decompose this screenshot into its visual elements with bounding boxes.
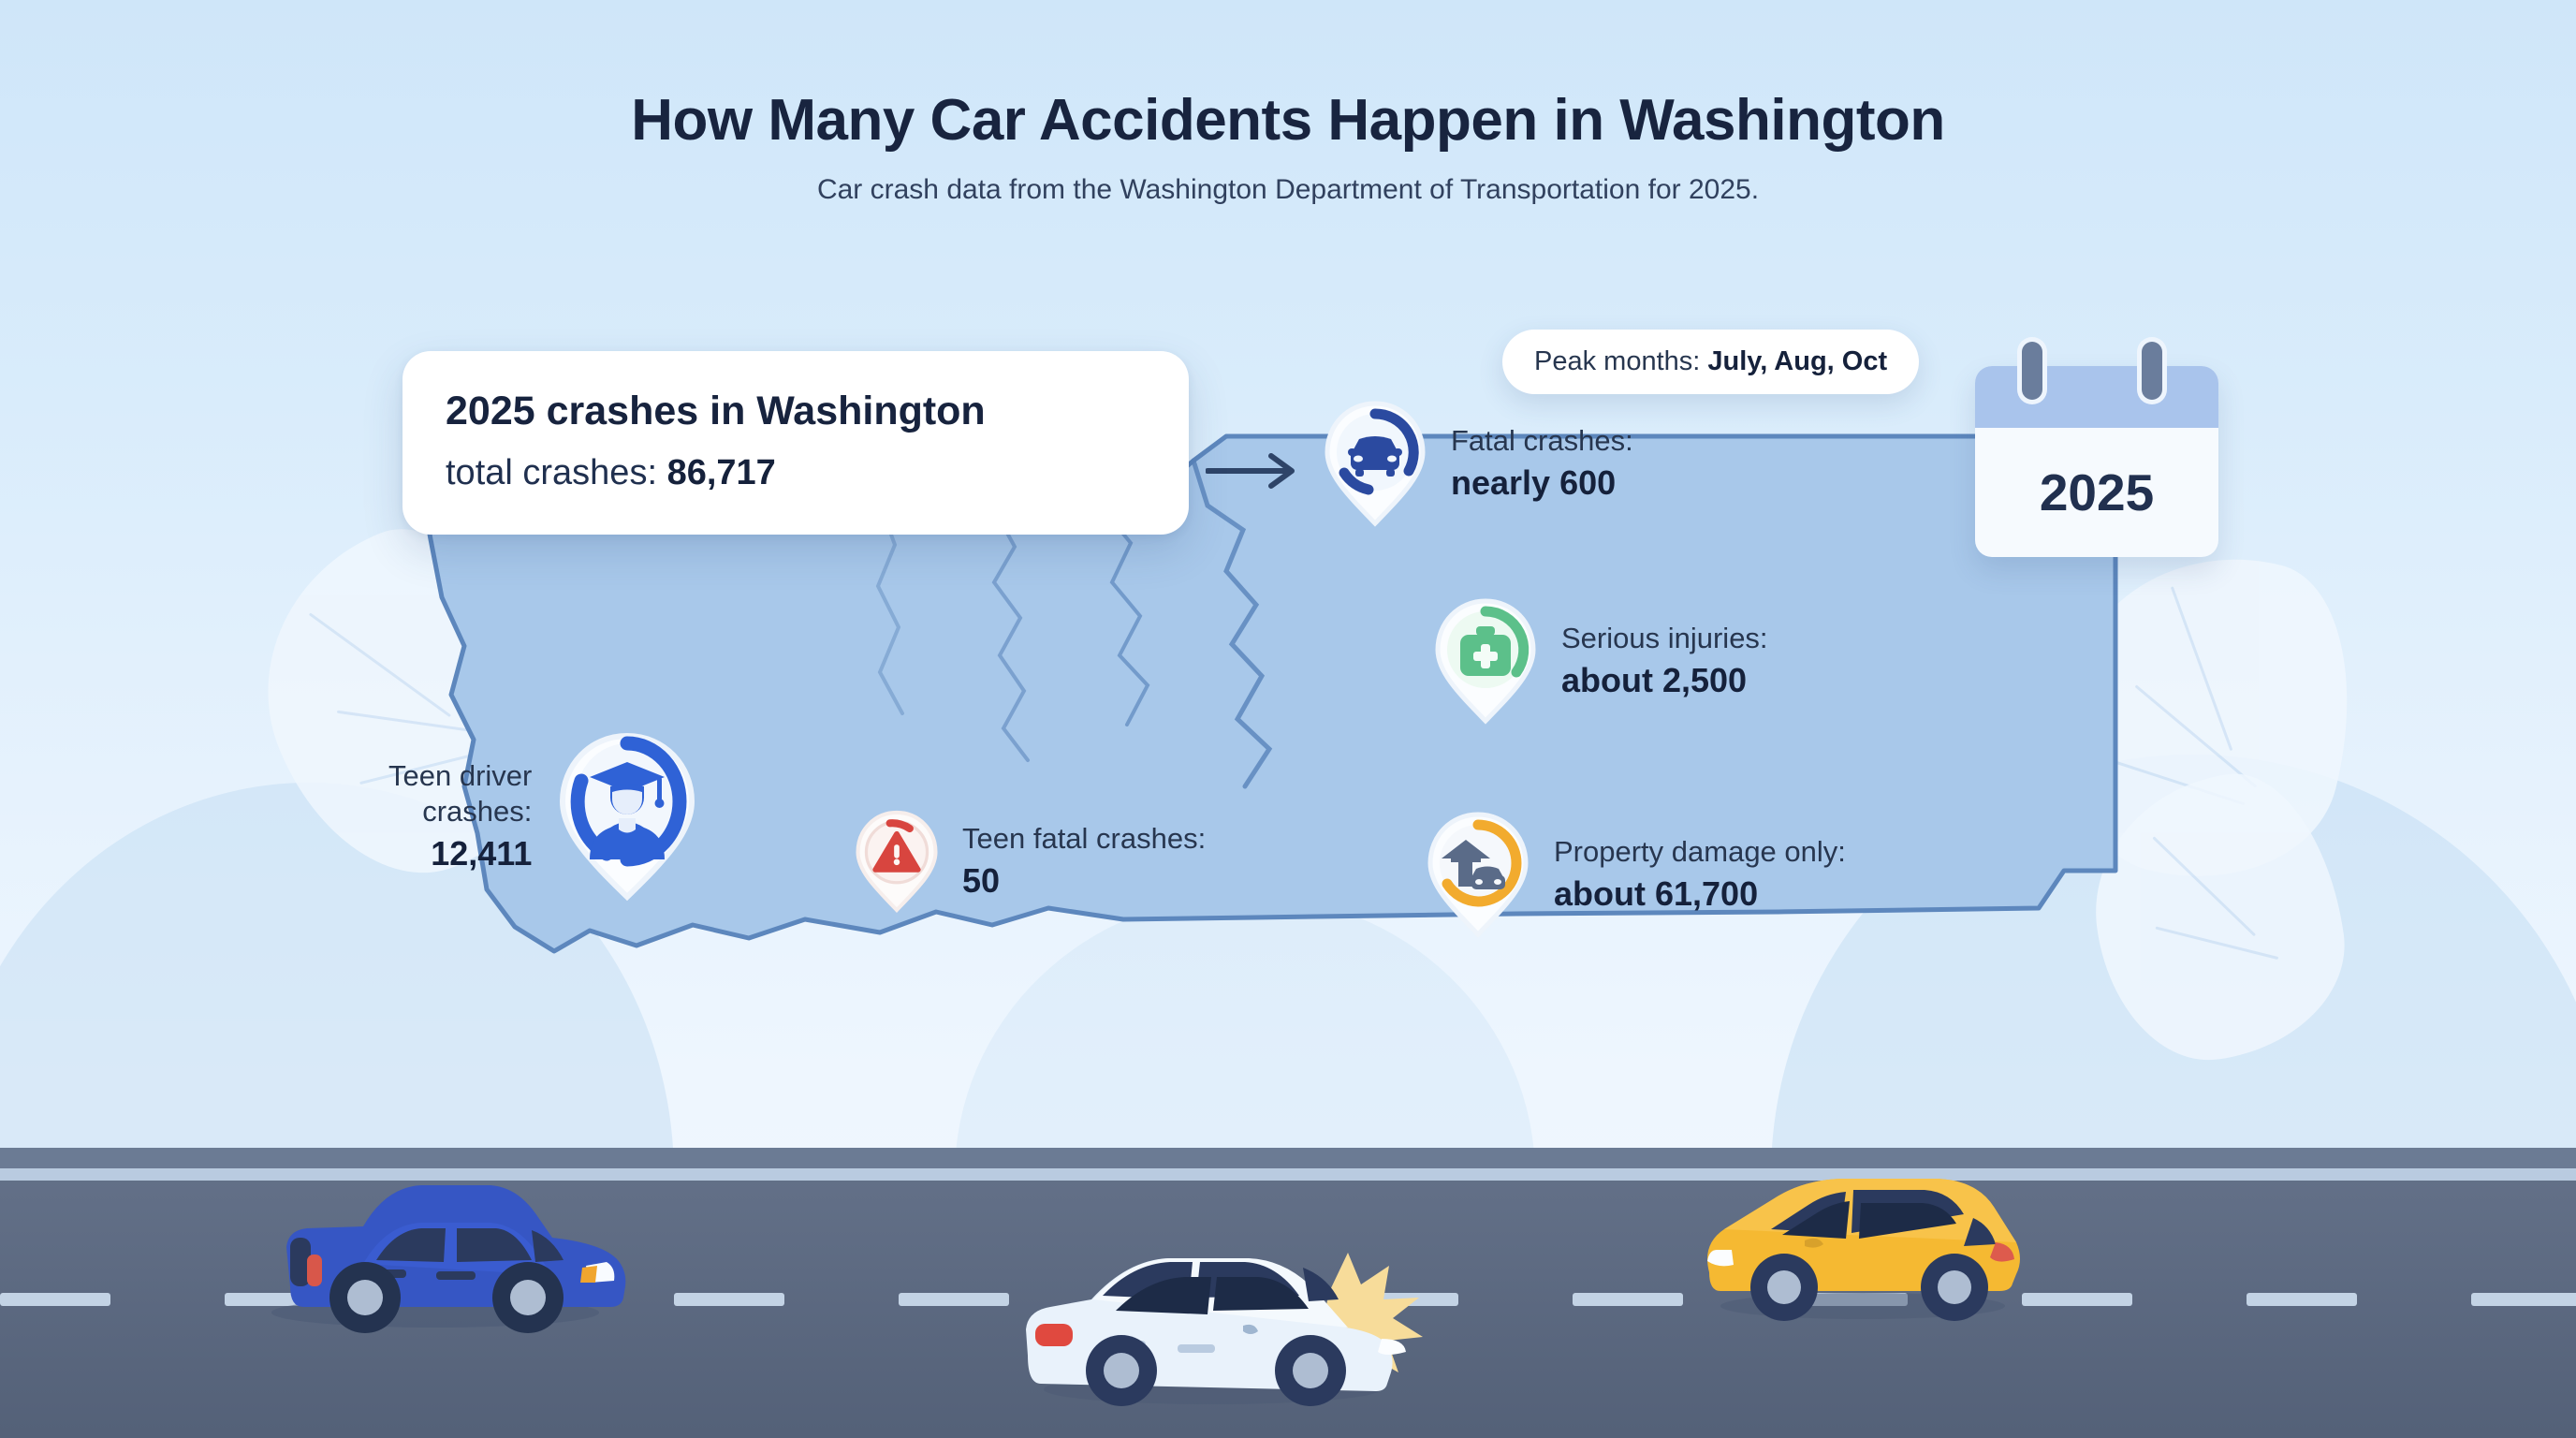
stat-pin-serious-injuries: Serious injuries: about 2,500 (1430, 595, 1768, 726)
stat-label: Fatal crashes: (1451, 423, 1633, 459)
arrow-connector-icon (1206, 452, 1309, 490)
peak-months-label: Peak months: (1534, 346, 1700, 376)
road-scene (0, 1148, 2576, 1438)
white-sedan-collision-illustration (1011, 1225, 1432, 1412)
lane-dash (2471, 1293, 2576, 1306)
stat-label: Property damage only: (1554, 834, 1846, 870)
lane-dash (674, 1293, 784, 1306)
total-crashes-value: 86,717 (667, 453, 776, 492)
stat-value: nearly 600 (1451, 462, 1633, 504)
medical-kit-icon (1430, 595, 1541, 726)
lane-dash (0, 1293, 110, 1306)
stat-text-fatal-crashes: Fatal crashes: nearly 600 (1451, 423, 1633, 504)
lane-dash (899, 1293, 1009, 1306)
stat-value: 50 (962, 859, 1206, 902)
stat-label-line1: Teen driver (388, 758, 532, 794)
page-subtitle: Car crash data from the Washington Depar… (0, 174, 2576, 206)
stat-text-serious-injuries: Serious injuries: about 2,500 (1561, 621, 1768, 701)
calendar-ring-left (2022, 342, 2042, 400)
stat-value: about 2,500 (1561, 659, 1768, 701)
calendar-header-band (1975, 366, 2218, 428)
stat-text-teen-fatal-crashes: Teen fatal crashes: 50 (962, 821, 1206, 902)
car-front-icon (1320, 398, 1430, 529)
peak-months-badge: Peak months: July, Aug, Oct (1502, 330, 1919, 394)
calendar-ring-right (2142, 342, 2162, 400)
stat-pin-fatal-crashes: Fatal crashes: nearly 600 (1320, 398, 1633, 529)
total-crashes-label: total crashes: (446, 453, 657, 492)
stat-text-property-damage: Property damage only: about 61,700 (1554, 834, 1846, 915)
graduate-student-icon (552, 728, 702, 904)
calendar-widget: 2025 (1975, 342, 2218, 557)
warning-triangle-icon (852, 807, 942, 916)
lane-dash (1573, 1293, 1683, 1306)
stat-label: Serious injuries: (1561, 621, 1768, 656)
yellow-hatchback-illustration (1685, 1162, 2041, 1326)
total-crashes-card: 2025 crashes in Washington total crashes… (402, 351, 1189, 535)
stat-pin-property-damage: Property damage only: about 61,700 (1423, 809, 1846, 940)
blue-suv-illustration (234, 1155, 627, 1333)
stat-label: Teen fatal crashes: (962, 821, 1206, 857)
card-total-row: total crashes: 86,717 (446, 453, 1146, 493)
stat-pin-teen-fatal-crashes: Teen fatal crashes: 50 (852, 807, 1206, 916)
house-car-icon (1423, 809, 1533, 940)
stat-value: 12,411 (388, 832, 532, 874)
calendar-body: 2025 (1975, 366, 2218, 557)
stat-value: about 61,700 (1554, 873, 1846, 915)
header: How Many Car Accidents Happen in Washing… (0, 90, 2576, 206)
infographic-canvas: How Many Car Accidents Happen in Washing… (0, 0, 2576, 1438)
stat-pin-teen-driver-crashes: Teen driver crashes: 12,411 (388, 728, 702, 904)
calendar-year: 2025 (1975, 428, 2218, 557)
stat-label-line2: crashes: (388, 794, 532, 829)
card-heading: 2025 crashes in Washington (446, 389, 1146, 434)
peak-months-value: July, Aug, Oct (1707, 346, 1887, 376)
stat-text-teen-driver-crashes: Teen driver crashes: 12,411 (388, 758, 532, 874)
lane-dash (2247, 1293, 2357, 1306)
page-title: How Many Car Accidents Happen in Washing… (0, 90, 2576, 152)
